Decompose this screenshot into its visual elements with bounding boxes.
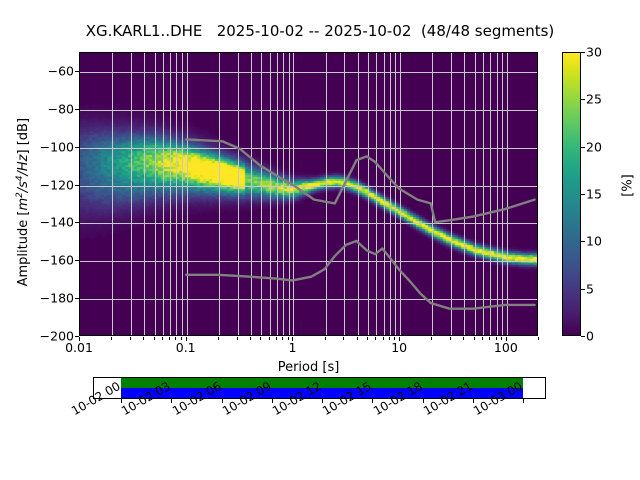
x-axis-tick-mark (130, 337, 131, 340)
x-axis-tick-label: 1 (288, 340, 296, 355)
y-axis-tick-mark (75, 109, 79, 110)
x-axis-tick-mark (237, 337, 238, 340)
y-axis-tick-label: −200 (0, 329, 74, 344)
y-axis-tick-label: −80 (0, 101, 74, 116)
x-axis-tick-mark (343, 337, 344, 340)
x-axis-tick-label: 0.01 (65, 340, 93, 355)
y-axis-label: Amplitude [m2/s4/Hz] [dB] (15, 82, 31, 322)
x-axis-tick-mark (367, 337, 368, 340)
x-axis-tick-mark (276, 337, 277, 340)
timeline-tick-mark (121, 399, 122, 403)
x-axis-tick-mark (269, 337, 270, 340)
x-axis-tick-mark (111, 337, 112, 340)
x-axis-tick-mark (474, 337, 475, 340)
colorbar-tick-label: 15 (586, 187, 602, 202)
timeline-tick-mark (423, 399, 424, 403)
timeline-tick-mark (222, 399, 223, 403)
ppsd-plot-area (79, 52, 538, 336)
y-axis-tick-mark (75, 298, 79, 299)
x-axis-label: Period [s] (79, 360, 538, 375)
colorbar-tick-mark (581, 241, 585, 242)
timeline-tick-mark (523, 399, 524, 403)
colorbar-tick-mark (581, 194, 585, 195)
y-axis-tick-label: −60 (0, 63, 74, 78)
x-axis-tick-mark (162, 337, 163, 340)
colorbar-tick-mark (581, 289, 585, 290)
colorbar-label: [%] (621, 156, 636, 216)
colorbar-tick-label: 0 (586, 329, 594, 344)
x-axis-tick-mark (375, 337, 376, 340)
timeline-tick-mark (372, 399, 373, 403)
timeline-tick-mark (272, 399, 273, 403)
x-axis-tick-mark (431, 337, 432, 340)
x-axis-tick-label: 0.1 (176, 340, 196, 355)
x-axis-tick-mark (169, 337, 170, 340)
y-axis-tick-label: −140 (0, 215, 74, 230)
x-axis-tick-mark (482, 337, 483, 340)
y-axis-tick-mark (75, 260, 79, 261)
y-axis-tick-label: −120 (0, 177, 74, 192)
x-axis-tick-mark (538, 337, 539, 340)
x-axis-tick-mark (282, 337, 283, 340)
x-axis-tick-mark (325, 337, 326, 340)
timeline-tick-mark (473, 399, 474, 403)
colorbar-tick-label: 20 (586, 139, 602, 154)
x-axis-tick-mark (389, 337, 390, 340)
y-axis-tick-label: −160 (0, 253, 74, 268)
x-axis-tick-mark (260, 337, 261, 340)
colorbar-tick-mark (581, 52, 585, 53)
colorbar-tick-label: 5 (586, 281, 594, 296)
x-axis-tick-mark (463, 337, 464, 340)
x-axis-tick-mark (154, 337, 155, 340)
x-axis-tick-mark (143, 337, 144, 340)
timeline-tick-mark (322, 399, 323, 403)
x-axis-tick-mark (250, 337, 251, 340)
x-axis-tick-mark (357, 337, 358, 340)
x-axis-tick-mark (450, 337, 451, 340)
noise-model-nhnm-curve (186, 139, 534, 222)
timeline-tick-mark (171, 399, 172, 403)
y-axis-tick-label: −100 (0, 139, 74, 154)
colorbar-tick-label: 25 (586, 92, 602, 107)
colorbar-tick-label: 30 (586, 45, 602, 60)
colorbar-tick-mark (581, 336, 585, 337)
noise-model-nlnm-curve (186, 241, 534, 309)
y-axis-tick-mark (75, 147, 79, 148)
y-axis-tick-mark (75, 222, 79, 223)
x-axis-tick-label: 10 (391, 340, 407, 355)
page-title: XG.KARL1..DHE 2025-10-02 -- 2025-10-02 (… (0, 22, 640, 40)
colorbar-tick-mark (581, 99, 585, 100)
colorbar (562, 52, 581, 336)
colorbar-tick-mark (581, 147, 585, 148)
x-axis-tick-mark (383, 337, 384, 340)
x-axis-tick-label: 100 (494, 340, 518, 355)
y-axis-tick-mark (75, 185, 79, 186)
colorbar-tick-label: 10 (586, 234, 602, 249)
y-axis-tick-mark (75, 71, 79, 72)
x-axis-tick-mark (489, 337, 490, 340)
x-axis-tick-mark (218, 337, 219, 340)
noise-model-curves (80, 53, 537, 335)
ppsd-figure: XG.KARL1..DHE 2025-10-02 -- 2025-10-02 (… (0, 0, 640, 480)
y-axis-tick-label: −180 (0, 291, 74, 306)
